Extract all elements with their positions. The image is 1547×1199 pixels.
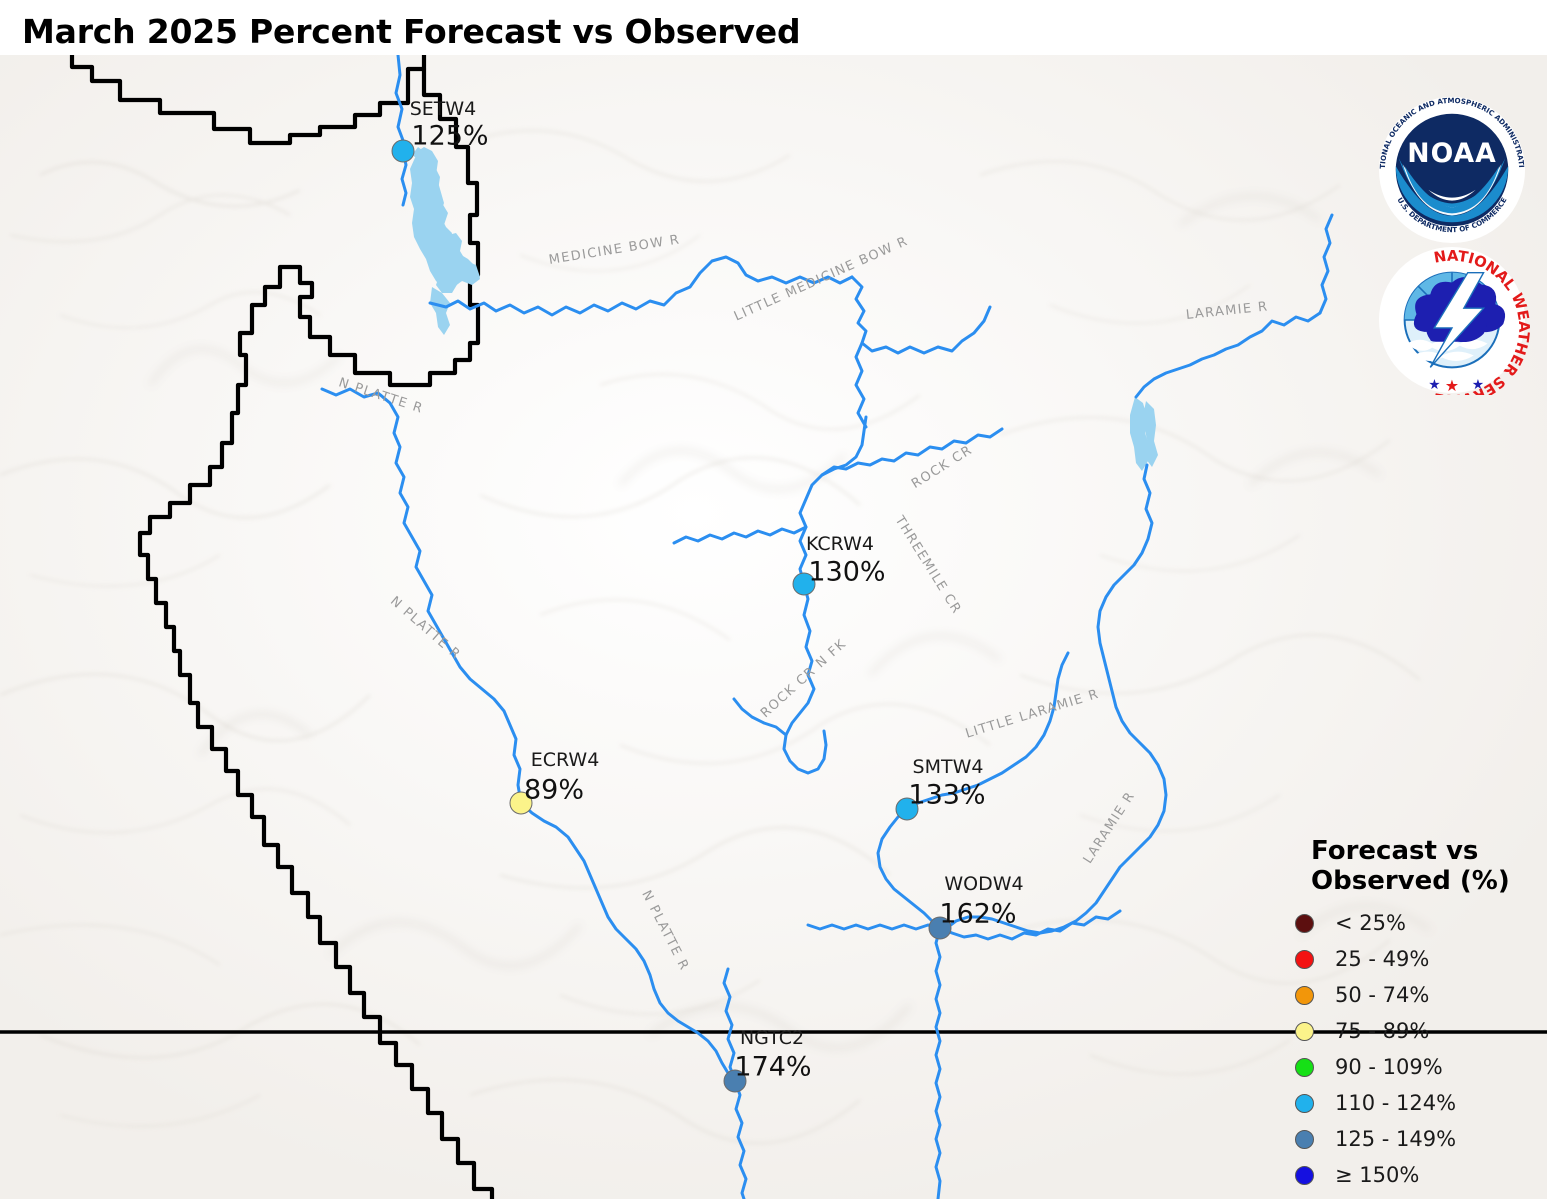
map-page: March 2025 Percent Forecast vs Observed: [0, 0, 1547, 1199]
legend-swatch-icon: [1295, 914, 1314, 933]
legend-rows: < 25%25 - 49%50 - 74%75 - 89%90 - 109%11…: [1289, 905, 1539, 1193]
star-right: ★: [1472, 377, 1484, 393]
legend-row: 110 - 124%: [1289, 1085, 1539, 1121]
star-center: ★: [1445, 376, 1459, 395]
legend-swatch-icon: [1295, 1130, 1314, 1149]
legend-label: 25 - 49%: [1335, 947, 1429, 971]
legend-label: 50 - 74%: [1335, 983, 1429, 1007]
legend-swatch-icon: [1295, 1022, 1314, 1041]
legend-swatch-icon: [1295, 986, 1314, 1005]
legend-label: 125 - 149%: [1335, 1127, 1456, 1151]
noaa-logo: NOAA NATIONAL OCEANIC AND ATMOSPHERIC AD…: [1373, 95, 1531, 245]
legend-swatch-icon: [1295, 1166, 1314, 1185]
nws-logo: NATIONAL WEATHER SERVICE ★ ★ ★: [1373, 245, 1531, 395]
station-value-label: 162%: [939, 899, 1016, 930]
station-value-label: 125%: [411, 121, 488, 152]
agency-logos: NOAA NATIONAL OCEANIC AND ATMOSPHERIC AD…: [1373, 95, 1535, 395]
legend-label: ≥ 150%: [1335, 1163, 1419, 1187]
legend-label: < 25%: [1335, 911, 1406, 935]
station-id-label: NGTC2: [740, 1027, 804, 1049]
legend-swatch-icon: [1295, 1094, 1314, 1113]
page-title: March 2025 Percent Forecast vs Observed: [22, 12, 800, 51]
legend-row: ≥ 150%: [1289, 1157, 1539, 1193]
station-id-label: SMTW4: [913, 756, 984, 778]
station-value-label: 133%: [908, 780, 985, 811]
station-id-label: WODW4: [944, 873, 1023, 895]
station-value-label: 174%: [734, 1052, 811, 1083]
legend-swatch-icon: [1295, 950, 1314, 969]
legend-label: 110 - 124%: [1335, 1091, 1456, 1115]
station-id-label: ECRW4: [531, 749, 600, 771]
station-id-label: SETW4: [410, 98, 477, 120]
legend-row: 125 - 149%: [1289, 1121, 1539, 1157]
station-value-label: 130%: [808, 557, 885, 588]
legend-row: 90 - 109%: [1289, 1049, 1539, 1085]
legend-title-line2: Observed (%): [1311, 866, 1539, 897]
legend-row: 50 - 74%: [1289, 977, 1539, 1013]
station-value-label: 89%: [524, 775, 584, 806]
legend-row: < 25%: [1289, 905, 1539, 941]
legend-label: 75 - 89%: [1335, 1019, 1429, 1043]
legend: Forecast vs Observed (%) < 25%25 - 49%50…: [1289, 836, 1539, 1193]
legend-swatch-icon: [1295, 1058, 1314, 1077]
legend-row: 75 - 89%: [1289, 1013, 1539, 1049]
station-id-label: KCRW4: [806, 533, 874, 555]
svg-text:NOAA: NOAA: [1407, 138, 1496, 169]
star-left: ★: [1428, 377, 1440, 393]
legend-row: 25 - 49%: [1289, 941, 1539, 977]
legend-label: 90 - 109%: [1335, 1055, 1443, 1079]
legend-title: Forecast vs Observed (%): [1311, 836, 1539, 897]
legend-title-line1: Forecast vs: [1311, 836, 1539, 867]
